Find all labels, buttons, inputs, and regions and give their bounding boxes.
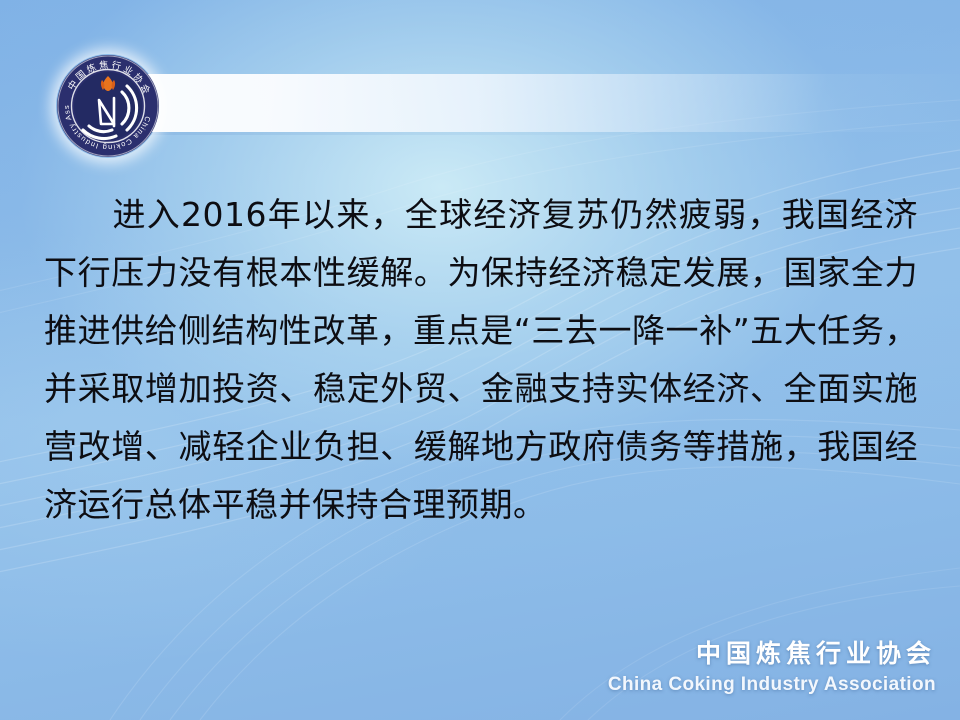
footer-organization-cn: 中国炼焦行业协会 [608,641,936,666]
footer-organization-en: China Coking Industry Association [608,675,936,694]
slide-body-text: 进入2016年以来，全球经济复苏仍然疲弱，我国经济下行压力没有根本性缓解。为保持… [44,186,918,534]
footer-branding: 中国炼焦行业协会 China Coking Industry Associati… [608,641,936,694]
body-paragraph: 进入2016年以来，全球经济复苏仍然疲弱，我国经济下行压力没有根本性缓解。为保持… [44,186,918,534]
association-logo: 中国炼焦行业协会 China Coking Industry Associati… [56,54,160,158]
header-band [80,74,960,132]
logo-emblem-icon: 中国炼焦行业协会 China Coking Industry Associati… [56,54,160,158]
presentation-slide: 中国炼焦行业协会 China Coking Industry Associati… [0,0,960,720]
